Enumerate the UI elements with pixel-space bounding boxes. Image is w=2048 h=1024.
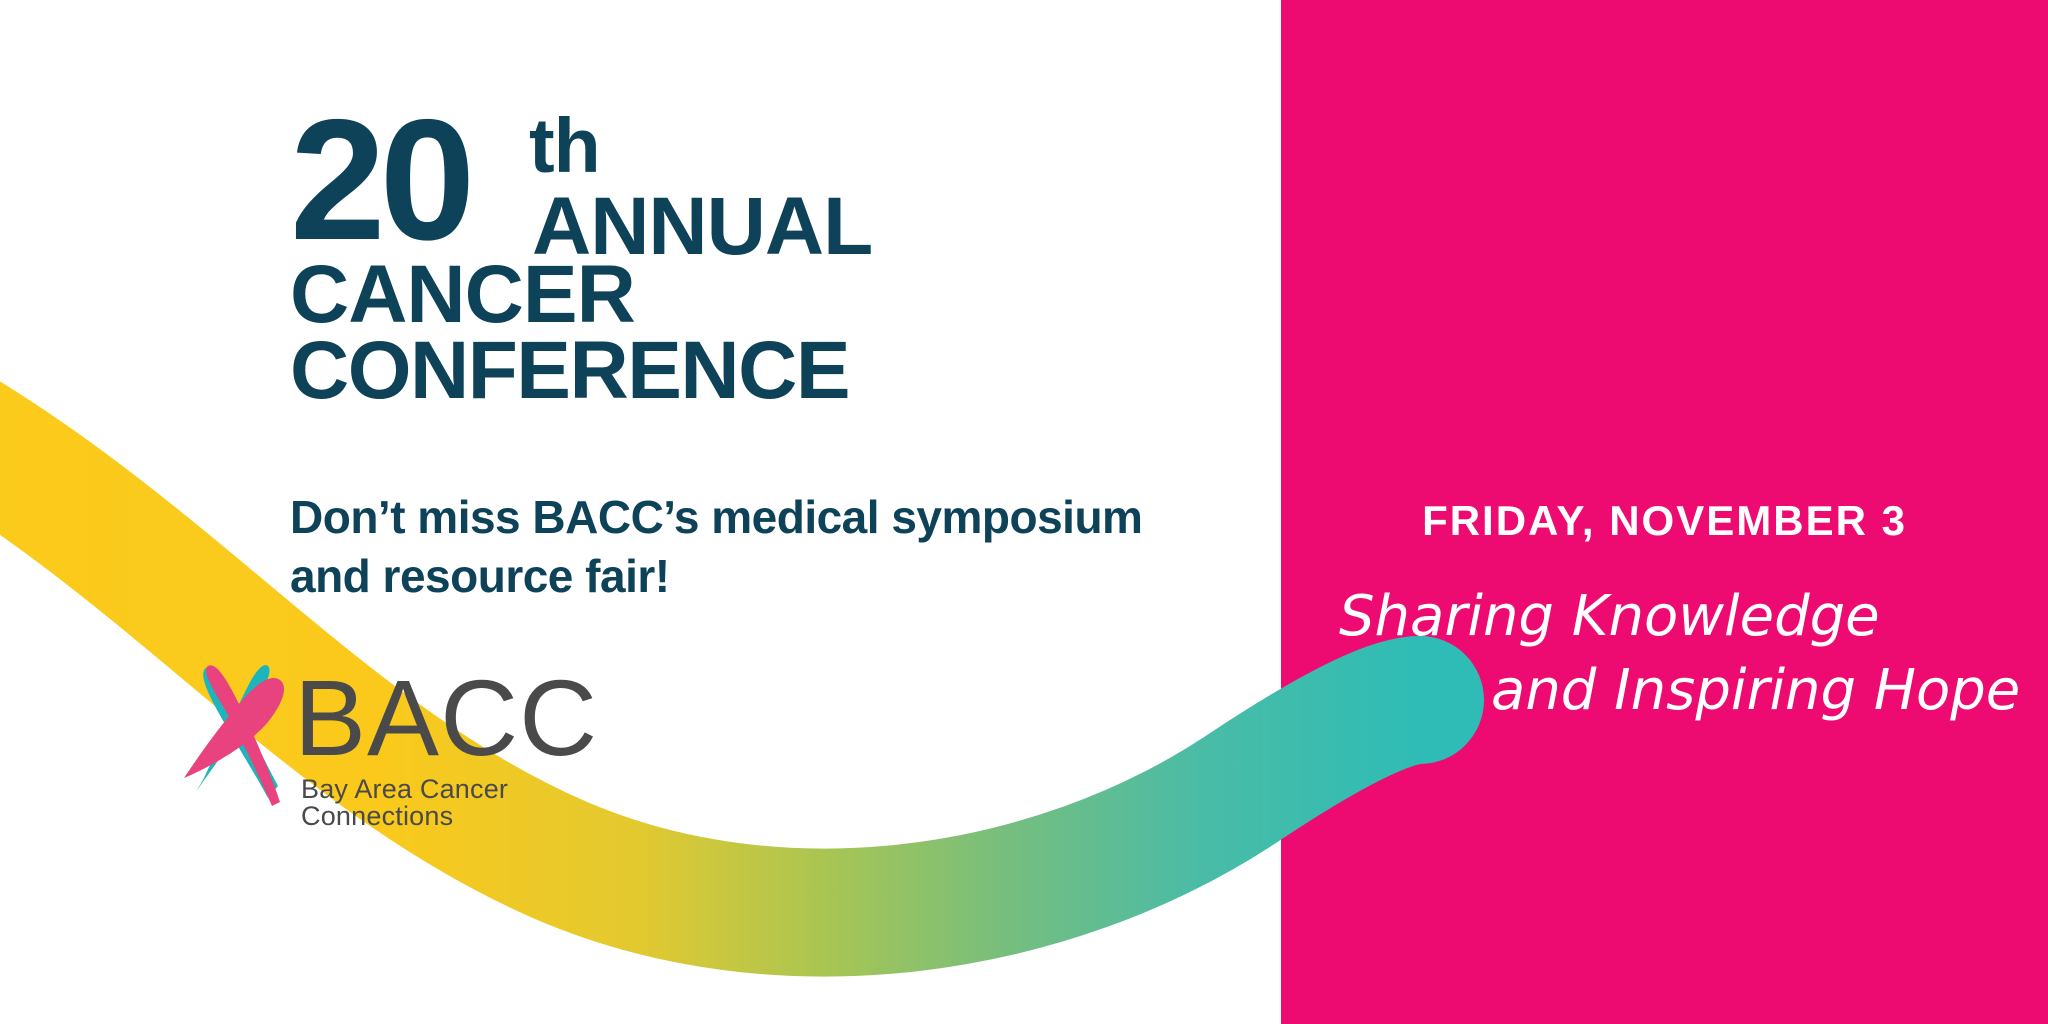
conference-banner: 20 th ANNUAL CANCER CONFERENCE Don’t mis… <box>0 0 2048 1024</box>
headline-word-conference: CONFERENCE <box>290 330 849 412</box>
anniversary-line: 20 th ANNUAL CANCER CONFERENCE <box>290 108 1190 256</box>
slogan-line-2: and Inspiring Hope <box>1281 654 2048 728</box>
anniversary-ordinal-suffix: th <box>529 108 600 185</box>
bacc-subtitle: Bay Area Cancer Connections <box>301 776 648 830</box>
slogan-line-1: Sharing Knowledge <box>1281 580 2048 654</box>
left-content-area: 20 th ANNUAL CANCER CONFERENCE Don’t mis… <box>0 0 1281 1024</box>
tagline-line-1: Don’t miss BACC’s medical symposium <box>290 491 1142 543</box>
anniversary-number: 20 <box>290 94 469 266</box>
tagline-line-2: and resource fair! <box>290 550 670 602</box>
ribbon-icon <box>168 660 308 810</box>
event-date: FRIDAY, NOVEMBER 3 <box>1281 500 2048 542</box>
headline-block: 20 th ANNUAL CANCER CONFERENCE <box>290 108 1190 256</box>
headline-word-cancer: CANCER <box>290 254 635 336</box>
event-slogan: Sharing Knowledge and Inspiring Hope <box>1281 580 2048 728</box>
bacc-logo: BACC Bay Area Cancer Connections <box>168 660 648 820</box>
bacc-wordmark: BACC <box>294 664 598 772</box>
event-tagline: Don’t miss BACC’s medical symposium and … <box>290 488 1200 606</box>
